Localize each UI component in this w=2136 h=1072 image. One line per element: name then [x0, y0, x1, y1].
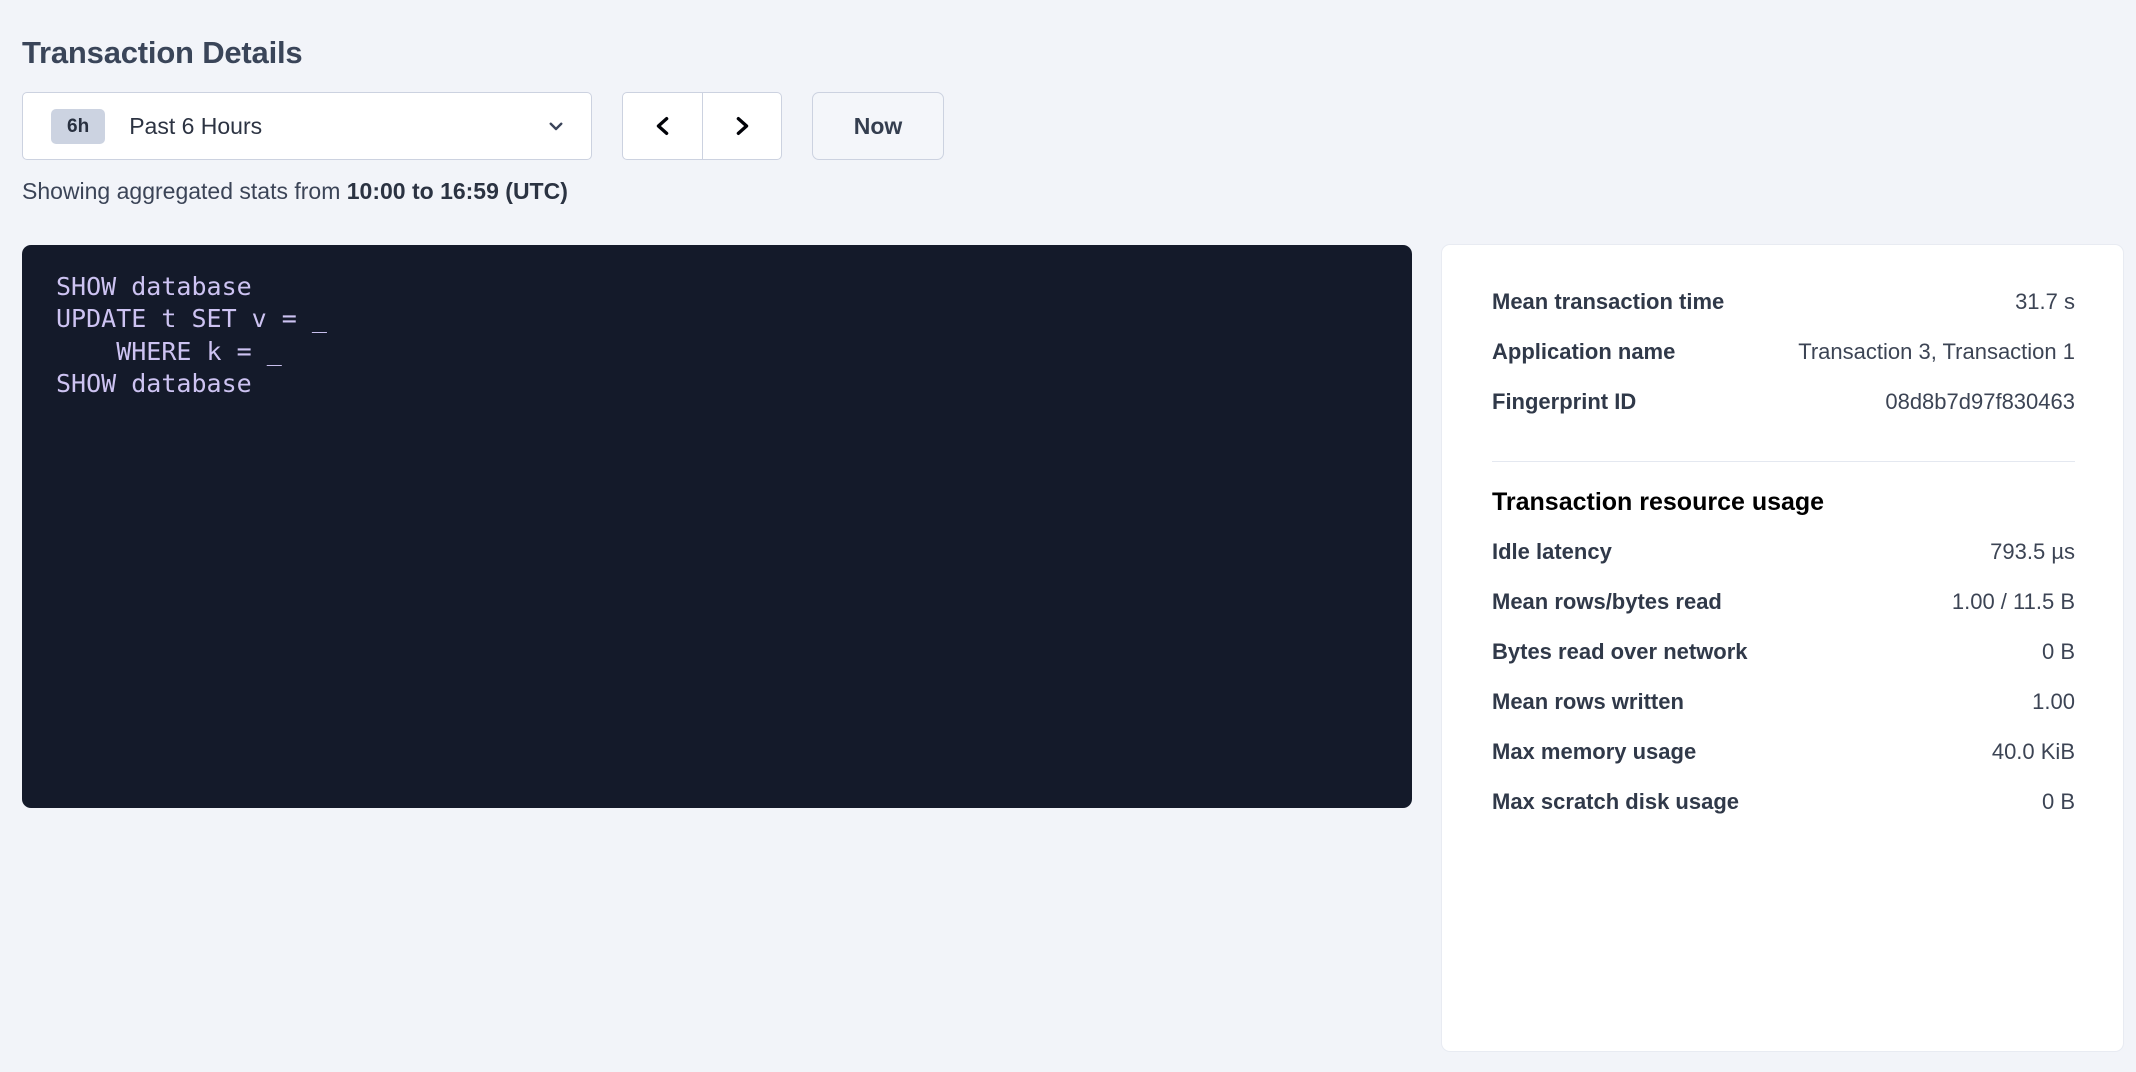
chevron-left-icon: [652, 115, 674, 137]
stat-value: 1.00 / 11.5 B: [1952, 589, 2075, 615]
stat-label: Mean rows/bytes read: [1492, 589, 1722, 615]
time-nav-group: [622, 92, 782, 160]
stat-row: Mean rows written 1.00: [1492, 689, 2075, 739]
stat-label: Fingerprint ID: [1492, 389, 1636, 415]
page-title: Transaction Details: [22, 35, 302, 71]
stat-value: 0 B: [2042, 789, 2075, 815]
divider: [1492, 461, 2075, 462]
time-range-badge: 6h: [51, 109, 105, 144]
statistics-panel: Mean transaction time 31.7 s Application…: [1441, 244, 2124, 1052]
stat-value: 31.7 s: [2015, 289, 2075, 315]
time-range-select[interactable]: 6h Past 6 Hours: [22, 92, 592, 160]
chevron-down-icon: [547, 117, 565, 135]
stat-value: 0 B: [2042, 639, 2075, 665]
stat-row: Bytes read over network 0 B: [1492, 639, 2075, 689]
caption-prefix: Showing aggregated stats from: [22, 178, 347, 204]
stat-row: Max scratch disk usage 0 B: [1492, 789, 2075, 839]
stat-row: Mean transaction time 31.7 s: [1492, 289, 2075, 339]
aggregation-caption: Showing aggregated stats from 10:00 to 1…: [22, 178, 568, 205]
stat-row: Mean rows/bytes read 1.00 / 11.5 B: [1492, 589, 2075, 639]
resource-usage-title: Transaction resource usage: [1492, 488, 2075, 517]
next-period-button[interactable]: [702, 93, 781, 159]
stat-value: 08d8b7d97f830463: [1885, 389, 2075, 415]
stat-label: Max scratch disk usage: [1492, 789, 1739, 815]
stat-row: Idle latency 793.5 µs: [1492, 539, 2075, 589]
sql-code-text: SHOW database UPDATE t SET v = _ WHERE k…: [56, 271, 1378, 400]
stat-label: Application name: [1492, 339, 1675, 365]
stat-label: Idle latency: [1492, 539, 1612, 565]
time-range-label: Past 6 Hours: [129, 113, 262, 140]
stat-label: Mean transaction time: [1492, 289, 1724, 315]
stat-row: Application name Transaction 3, Transact…: [1492, 339, 2075, 389]
stat-value: 1.00: [2032, 689, 2075, 715]
stat-value: Transaction 3, Transaction 1: [1798, 339, 2075, 365]
stat-label: Max memory usage: [1492, 739, 1696, 765]
previous-period-button[interactable]: [623, 93, 702, 159]
stat-value: 793.5 µs: [1990, 539, 2075, 565]
caption-range: 10:00 to 16:59 (UTC): [347, 178, 568, 204]
stat-label: Mean rows written: [1492, 689, 1684, 715]
stat-row: Max memory usage 40.0 KiB: [1492, 739, 2075, 789]
stat-label: Bytes read over network: [1492, 639, 1748, 665]
sql-code-panel[interactable]: SHOW database UPDATE t SET v = _ WHERE k…: [22, 245, 1412, 808]
stat-value: 40.0 KiB: [1992, 739, 2075, 765]
stat-row: Fingerprint ID 08d8b7d97f830463: [1492, 389, 2075, 439]
now-button[interactable]: Now: [812, 92, 944, 160]
chevron-right-icon: [731, 115, 753, 137]
